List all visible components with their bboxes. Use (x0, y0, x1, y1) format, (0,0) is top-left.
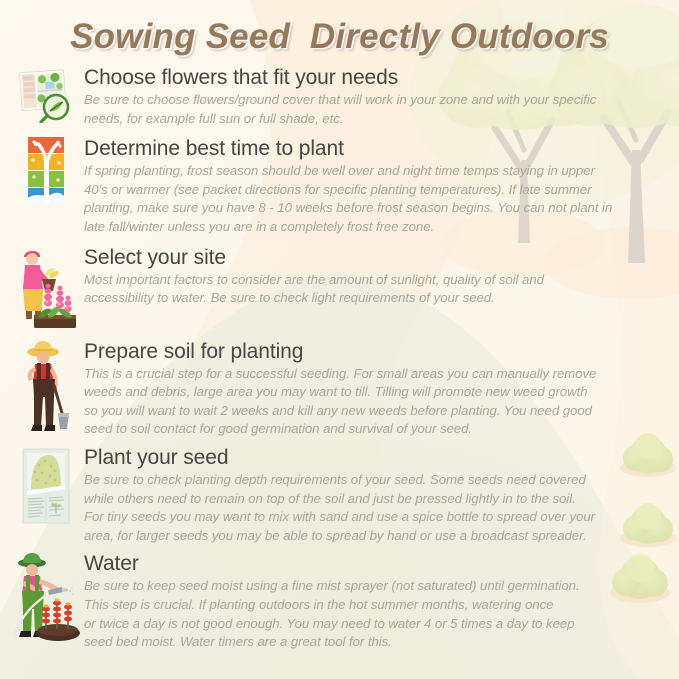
step-body: Plant your seed Be sure to check plantin… (82, 443, 665, 545)
step-heading: Determine best time to plant (84, 136, 665, 162)
step-heading: Select your site (84, 245, 665, 271)
step-body: Select your site Most important factors … (82, 243, 665, 308)
step-icon-slot (10, 549, 82, 643)
step-item-water: Water Be sure to keep seed moist using a… (0, 549, 679, 651)
step-body: Choose flowers that fit your needs Be su… (82, 63, 665, 128)
step-item-select-site: Select your site Most important factors … (0, 243, 679, 331)
step-heading: Water (84, 551, 665, 577)
step-description: If spring planting, frost season should … (84, 162, 665, 236)
step-description: Most important factors to consider are t… (84, 271, 665, 308)
step-icon-slot (10, 243, 82, 331)
step-heading: Choose flowers that fit your needs (84, 65, 665, 91)
red-flower-spikes (42, 599, 72, 630)
step-description: Be sure to check planting depth requirem… (84, 471, 665, 545)
step-icon-slot (10, 337, 82, 435)
step-description: Be sure to keep seed moist using a fine … (84, 577, 665, 651)
infographic-poster: Sowing Seed Directly Outdoors (0, 0, 679, 679)
garden-plan-magnifier-icon (16, 65, 76, 123)
step-heading: Plant your seed (84, 445, 665, 471)
step-item-prepare-soil: Prepare soil for planting This is a cruc… (0, 337, 679, 439)
step-icon-slot (10, 134, 82, 208)
step-description: Be sure to choose flowers/ground cover t… (84, 91, 665, 128)
step-item-determine-time: Determine best time to plant If spring p… (0, 134, 679, 236)
gardener-watering-icon (10, 551, 82, 643)
held-pot (42, 268, 59, 291)
step-heading: Prepare soil for planting (84, 339, 665, 365)
steps-list: Choose flowers that fit your needs Be su… (0, 63, 679, 652)
gardener-with-shovel-icon (17, 339, 75, 435)
step-item-plant-seed: Plant your seed Be sure to check plantin… (0, 443, 679, 545)
step-item-choose-flowers: Choose flowers that fit your needs Be su… (0, 63, 679, 128)
step-body: Prepare soil for planting This is a cruc… (82, 337, 665, 439)
gardener-flower-planter-icon (14, 245, 78, 331)
four-seasons-icon (22, 136, 70, 208)
step-body: Determine best time to plant If spring p… (82, 134, 665, 236)
page-title: Sowing Seed Directly Outdoors (0, 0, 679, 57)
seed-packet-icon (17, 445, 75, 527)
step-description: This is a crucial step for a successful … (84, 365, 665, 439)
step-icon-slot (10, 443, 82, 527)
step-body: Water Be sure to keep seed moist using a… (82, 549, 665, 651)
step-icon-slot (10, 63, 82, 123)
